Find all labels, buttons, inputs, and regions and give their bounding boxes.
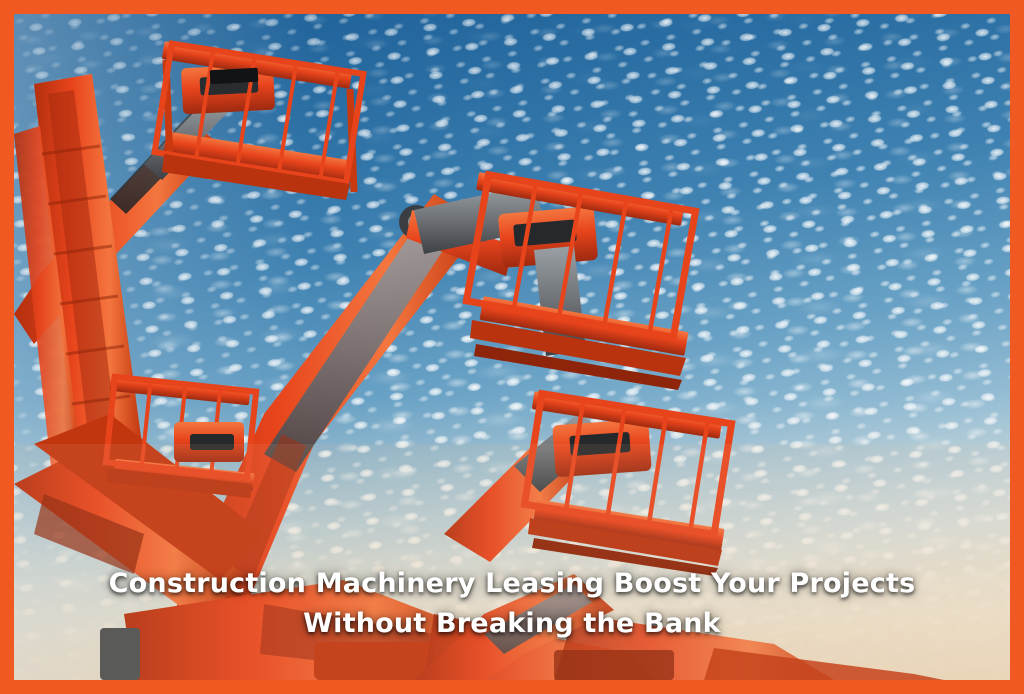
caption-line-2: Without Breaking the Bank xyxy=(54,604,970,644)
photo-frame: Construction Machinery Leasing Boost You… xyxy=(14,14,1010,680)
caption-text: Construction Machinery Leasing Boost You… xyxy=(14,564,1010,644)
caption-line-1: Construction Machinery Leasing Boost You… xyxy=(54,564,970,604)
boom-lift-4 xyxy=(414,172,696,390)
poster-container: Construction Machinery Leasing Boost You… xyxy=(0,0,1024,694)
